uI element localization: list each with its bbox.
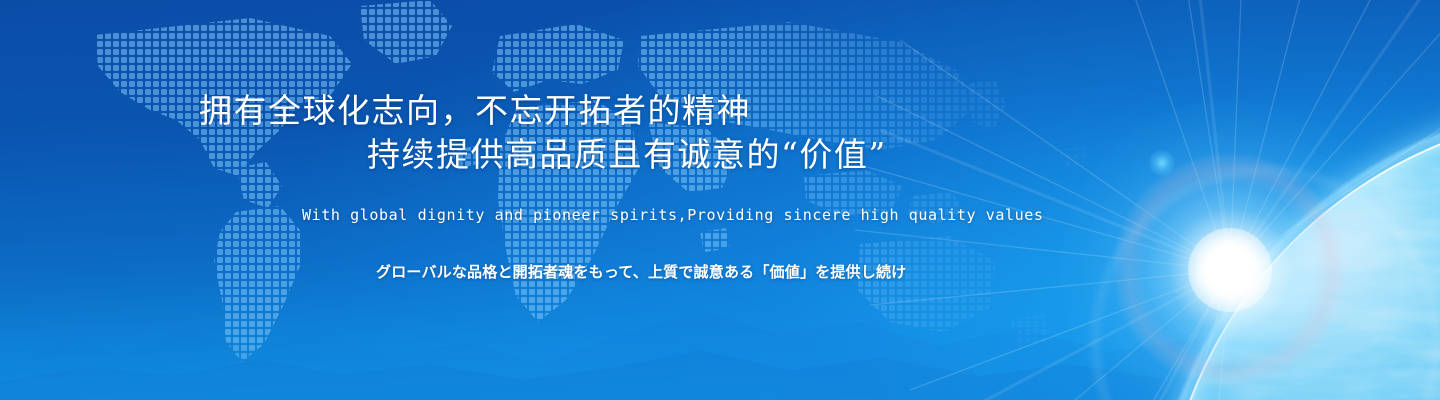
subtitle-japanese: グローバルな品格と開拓者魂をもって、上質で誠意ある「価値」を提供し続け bbox=[376, 261, 906, 282]
hero-banner: 拥有全球化志向，不忘开拓者的精神 持续提供高品质且有诚意的“价值” With g… bbox=[0, 0, 1440, 400]
banner-text-block: 拥有全球化志向，不忘开拓者的精神 持续提供高品质且有诚意的“价值” With g… bbox=[0, 0, 1440, 400]
headline-line-2: 持续提供高品质且有诚意的“价值” bbox=[367, 138, 887, 171]
headline-line-1: 拥有全球化志向，不忘开拓者的精神 bbox=[199, 94, 751, 127]
subtitle-english: With global dignity and pioneer spirits,… bbox=[302, 206, 1044, 224]
